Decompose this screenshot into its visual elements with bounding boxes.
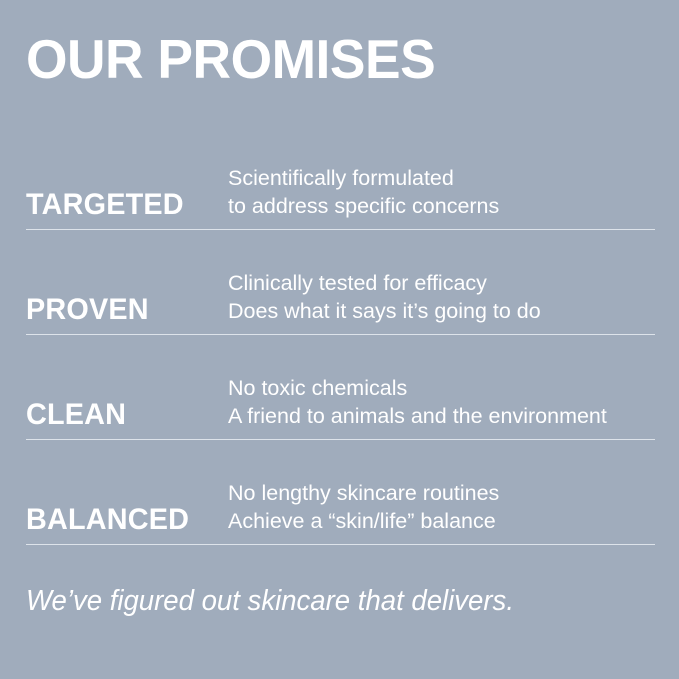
promise-description-line-1: No lengthy skincare routines bbox=[228, 479, 655, 507]
promise-term: TARGETED bbox=[26, 190, 220, 220]
promise-list: TARGETED Scientifically formulated to ad… bbox=[0, 125, 679, 545]
promise-description-line-1: Scientifically formulated bbox=[228, 164, 655, 192]
promise-description-line-2: to address specific concerns bbox=[228, 192, 655, 220]
page-title: OUR PROMISES bbox=[26, 28, 435, 90]
promise-term: PROVEN bbox=[26, 295, 220, 325]
promise-row-content: CLEAN No toxic chemicals A friend to ani… bbox=[26, 335, 655, 440]
promise-description: No toxic chemicals A friend to animals a… bbox=[228, 374, 655, 430]
promise-row-content: TARGETED Scientifically formulated to ad… bbox=[26, 125, 655, 230]
promise-description-line-1: No toxic chemicals bbox=[228, 374, 655, 402]
footer-tagline: We’ve figured out skincare that delivers… bbox=[26, 583, 514, 619]
our-promises-card: OUR PROMISES TARGETED Scientifically for… bbox=[0, 0, 679, 679]
promise-row: PROVEN Clinically tested for efficacy Do… bbox=[0, 230, 679, 335]
promise-description: Clinically tested for efficacy Does what… bbox=[228, 269, 655, 325]
promise-row-content: BALANCED No lengthy skincare routines Ac… bbox=[26, 440, 655, 545]
promise-divider bbox=[26, 544, 655, 545]
promise-description-line-2: Achieve a “skin/life” balance bbox=[228, 507, 655, 535]
promise-row: TARGETED Scientifically formulated to ad… bbox=[0, 125, 679, 230]
promise-row: CLEAN No toxic chemicals A friend to ani… bbox=[0, 335, 679, 440]
promise-description-line-1: Clinically tested for efficacy bbox=[228, 269, 655, 297]
promise-description-line-2: A friend to animals and the environment bbox=[228, 402, 655, 430]
promise-description-line-2: Does what it says it’s going to do bbox=[228, 297, 655, 325]
promise-row-content: PROVEN Clinically tested for efficacy Do… bbox=[26, 230, 655, 335]
promise-description: No lengthy skincare routines Achieve a “… bbox=[228, 479, 655, 535]
promise-term: BALANCED bbox=[26, 505, 220, 535]
promise-term: CLEAN bbox=[26, 400, 220, 430]
promise-row: BALANCED No lengthy skincare routines Ac… bbox=[0, 440, 679, 545]
promise-description: Scientifically formulated to address spe… bbox=[228, 164, 655, 220]
